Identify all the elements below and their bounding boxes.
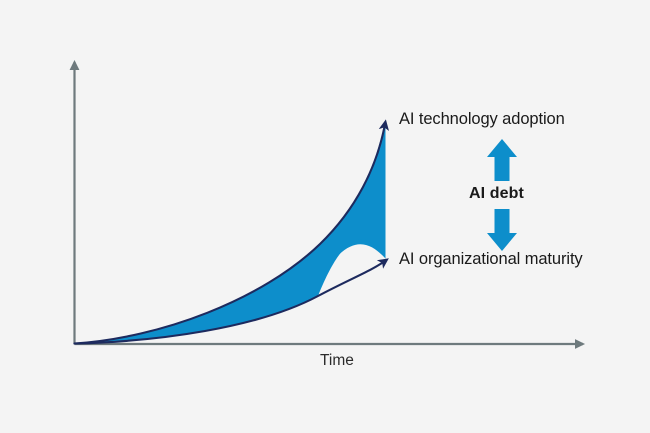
series-label-adoption: AI technology adoption (399, 111, 565, 128)
ai-debt-area (75, 122, 386, 344)
debt-arrow-down-icon (487, 209, 517, 251)
debt-arrow-up-icon (487, 139, 517, 181)
x-axis-label: Time (320, 353, 354, 369)
ai-debt-label: AI debt (469, 186, 524, 202)
diagram-canvas: AI technology adoption AI organizational… (0, 0, 650, 433)
series-label-maturity: AI organizational maturity (399, 251, 583, 268)
